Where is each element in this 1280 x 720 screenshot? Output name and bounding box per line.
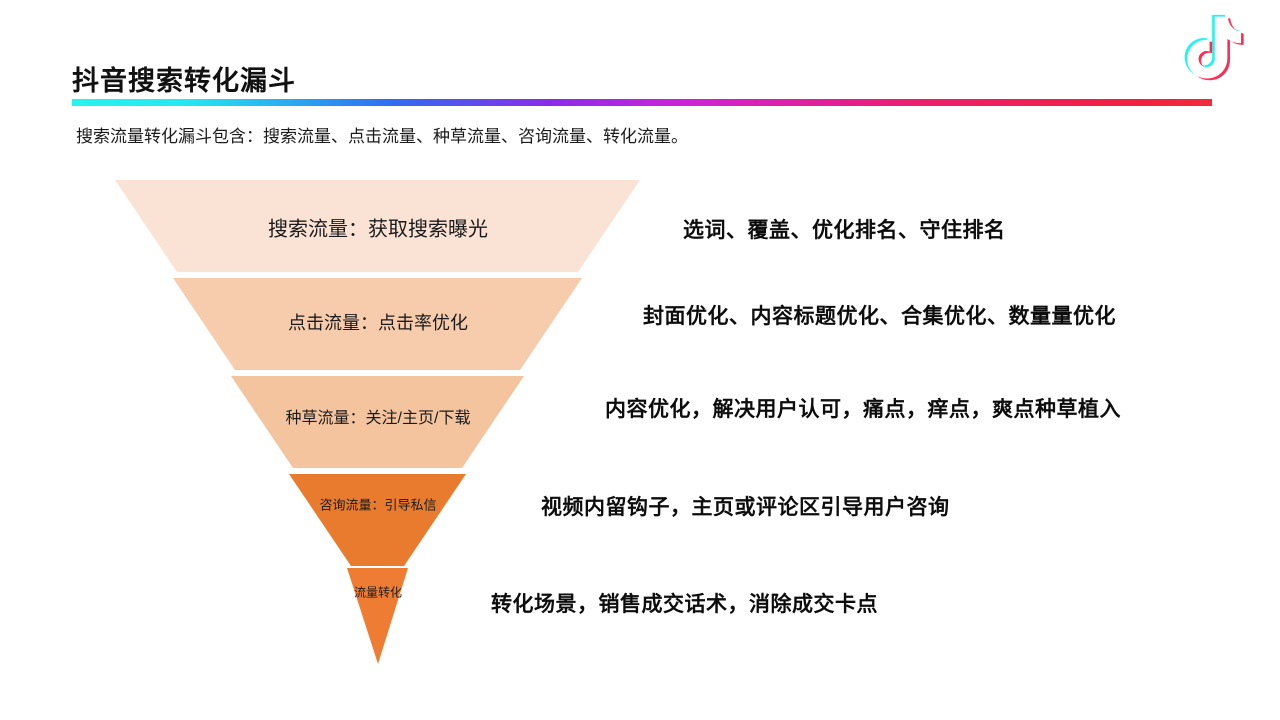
funnel-segment-1 <box>115 180 640 272</box>
stage-note-3: 内容优化，解决用户认可，痛点，痒点，爽点种草植入 <box>605 393 1121 423</box>
stage-note-1: 选词、覆盖、优化排名、守住排名 <box>683 214 1006 244</box>
stage-note-2: 封面优化、内容标题优化、合集优化、数量量优化 <box>643 300 1116 330</box>
stage-note-5: 转化场景，销售成交话术，消除成交卡点 <box>491 588 878 618</box>
page-title: 抖音搜索转化漏斗 <box>72 66 296 97</box>
page-subtitle: 搜索流量转化漏斗包含：搜索流量、点击流量、种草流量、咨询流量、转化流量。 <box>76 122 688 147</box>
title-gradient-rule <box>72 99 1212 106</box>
funnel-segment-2 <box>173 278 582 370</box>
tiktok-logo <box>1164 8 1250 94</box>
funnel-segment-4 <box>289 474 466 566</box>
funnel-segment-5 <box>347 568 408 664</box>
funnel-segment-3 <box>231 376 524 468</box>
stage-note-4: 视频内留钩子，主页或评论区引导用户咨询 <box>541 491 950 521</box>
